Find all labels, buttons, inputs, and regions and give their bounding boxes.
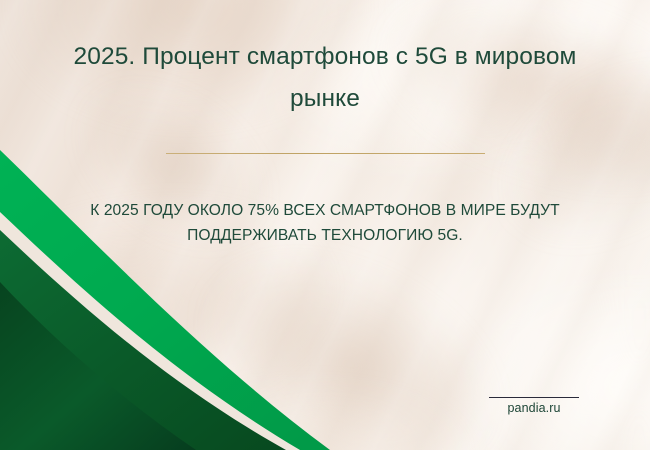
footer-attribution: pandia.ru	[489, 397, 579, 415]
footer-rule	[489, 397, 579, 398]
slide-canvas: 2025. Процент смартфонов с 5G в мировом …	[0, 0, 650, 450]
body-paragraph: К 2025 ГОДУ ОКОЛО 75% ВСЕХ СМАРТФОНОВ В …	[62, 198, 588, 248]
gold-divider	[166, 153, 485, 154]
footer-label: pandia.ru	[489, 401, 579, 415]
page-title: 2025. Процент смартфонов с 5G в мировом …	[62, 36, 588, 120]
